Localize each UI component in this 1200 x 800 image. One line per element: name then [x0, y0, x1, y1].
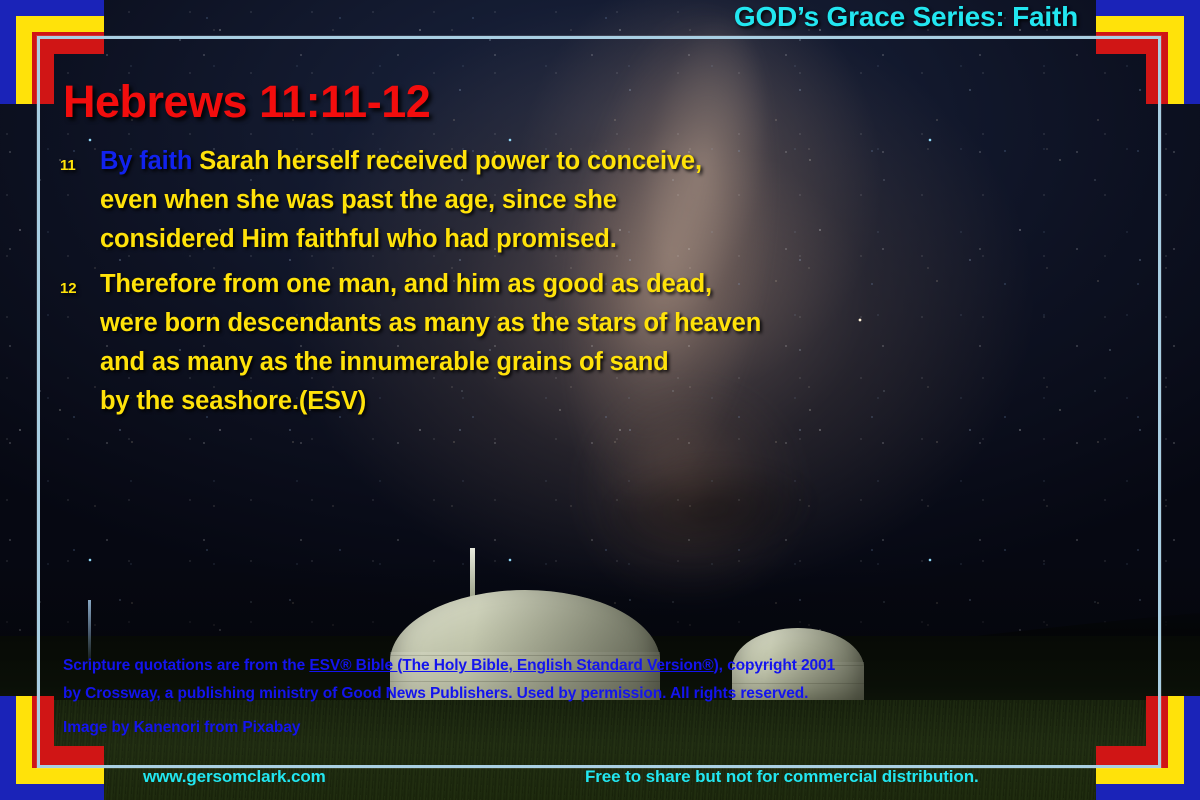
verse-line: Therefore from one man, and him as good …	[100, 265, 1110, 304]
copyright-line-2: by Crossway, a publishing ministry of Go…	[63, 680, 1123, 708]
copyright-notice: Scripture quotations are from the ESV® B…	[63, 652, 1123, 742]
footer-distribution-note: Free to share but not for commercial dis…	[585, 767, 979, 787]
verse-line: considered Him faithful who had promised…	[100, 220, 1110, 259]
verse-line: By faith Sarah herself received power to…	[100, 142, 1110, 181]
verse-11: 11 By faith Sarah herself received power…	[60, 142, 1110, 259]
copyright-text-a: Scripture quotations are from the	[63, 657, 309, 674]
verse-highlight-phrase: By faith	[100, 147, 192, 175]
verse-line: and as many as the innumerable grains of…	[100, 343, 1110, 382]
footer-website-url[interactable]: www.gersomclark.com	[143, 767, 326, 787]
scripture-reference-heading: Hebrews 11:11-12	[63, 76, 430, 128]
verse-line: by the seashore.(ESV)	[100, 382, 1110, 421]
scripture-slide: GOD’s Grace Series: Faith Hebrews 11:11-…	[0, 0, 1200, 800]
verse-number: 11	[60, 146, 76, 185]
series-title: GOD’s Grace Series: Faith	[734, 1, 1078, 33]
verse-line-text: Sarah herself received power to conceive…	[192, 147, 702, 175]
verse-number: 12	[60, 269, 76, 308]
verse-line: were born descendants as many as the sta…	[100, 304, 1110, 343]
verse-block: 11 By faith Sarah herself received power…	[60, 142, 1110, 427]
copyright-line-1: Scripture quotations are from the ESV® B…	[63, 657, 835, 674]
copyright-text-b: ), copyright 2001	[714, 657, 835, 674]
image-attribution: Image by Kanenori from Pixabay	[63, 714, 1123, 742]
copyright-esv-link[interactable]: ESV® Bible (The Holy Bible, English Stan…	[309, 657, 713, 674]
yurt-roof-pole	[470, 548, 475, 600]
verse-12: 12 Therefore from one man, and him as go…	[60, 265, 1110, 421]
verse-line: even when she was past the age, since sh…	[100, 181, 1110, 220]
